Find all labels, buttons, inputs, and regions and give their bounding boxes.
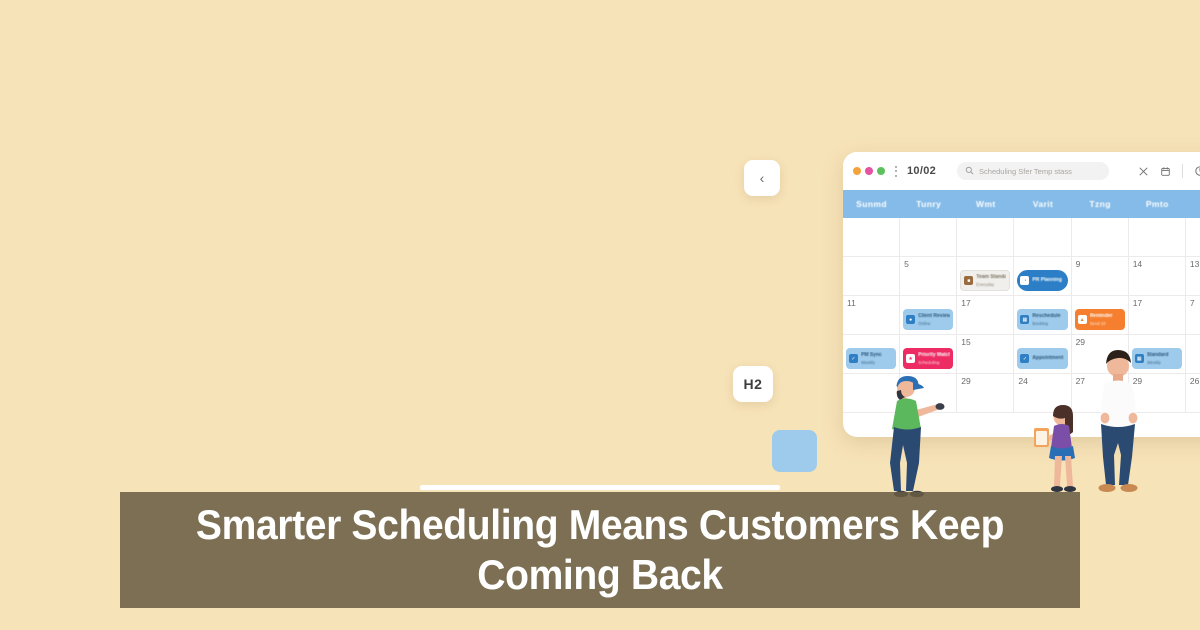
day-header-0: Sunmd: [843, 190, 900, 218]
calendar-cell[interactable]: 17: [957, 296, 1014, 335]
day-header-5: Pmto: [1129, 190, 1186, 218]
calendar-day-number: 29: [961, 377, 1013, 386]
calendar-day-number: 17: [961, 299, 1013, 308]
calendar-cell[interactable]: [900, 218, 957, 257]
calendar-cell[interactable]: [1072, 218, 1129, 257]
calendar-day-number: 26: [1190, 377, 1200, 386]
search-input-value: Scheduling Sfer Temp stass: [979, 167, 1072, 176]
calendar-cell[interactable]: [1129, 218, 1186, 257]
calendar-cell[interactable]: 5: [900, 257, 957, 296]
event-title: Client Review: [918, 313, 950, 319]
event-title: Priority Match: [918, 352, 950, 358]
clock-icon: ◔: [1020, 276, 1029, 285]
event-subtitle: Everyday: [976, 282, 1006, 287]
calendar-event-chip[interactable]: ✓Appointment: [1017, 348, 1067, 369]
calendar-day-number: 14: [1133, 260, 1185, 269]
event-subtitle: Scheduling: [918, 360, 950, 365]
event-text: ReminderSend 10: [1090, 313, 1122, 326]
event-title: Reschedule: [1032, 313, 1064, 319]
event-title: Team Standard: [976, 274, 1006, 280]
event-text: PM SyncWeekly: [861, 352, 893, 365]
page-title: Smarter Scheduling Means Customers Keep …: [167, 500, 1034, 599]
star-icon: ★: [906, 354, 915, 363]
h2-chip-label: H2: [744, 376, 763, 392]
event-title: PM Sync: [861, 352, 893, 358]
calendar-cell[interactable]: [843, 257, 900, 296]
calendar-cell[interactable]: [1186, 335, 1200, 374]
person-green-shirt: [880, 368, 950, 500]
calendar-toolbar: 10/02 Scheduling Sfer Temp stass: [843, 152, 1200, 190]
event-title: Standard: [1147, 352, 1179, 358]
event-text: PR Planning: [1032, 277, 1064, 285]
calendar-cell[interactable]: 11: [843, 296, 900, 335]
calendar-cell[interactable]: [1186, 218, 1200, 257]
event-text: StandardWeekly: [1147, 352, 1179, 365]
event-subtitle: Booking: [1032, 321, 1064, 326]
calendar-day-number: 11: [847, 299, 899, 308]
event-text: Team StandardEveryday: [976, 274, 1006, 287]
check-icon: ✓: [849, 354, 858, 363]
green-dot-icon[interactable]: [877, 167, 885, 175]
calendar-event-chip[interactable]: ▦RescheduleBooking: [1017, 309, 1067, 330]
calendar-cell[interactable]: 13: [1186, 257, 1200, 296]
calendar-cell[interactable]: 15: [957, 335, 1014, 374]
calendar-event-chip[interactable]: ◔PR Planning: [1017, 270, 1067, 291]
calendar-cell[interactable]: 26: [1186, 374, 1200, 413]
calendar-cell[interactable]: [1014, 218, 1071, 257]
calendar-cell[interactable]: ●Client ReviewOnline: [900, 296, 957, 335]
kebab-menu-icon[interactable]: [894, 166, 897, 177]
day-header-1: Tunry: [900, 190, 957, 218]
back-button[interactable]: ‹: [744, 160, 780, 196]
bell-icon: ▲: [1078, 315, 1087, 324]
event-subtitle: Online: [918, 321, 950, 326]
briefcase-icon: ■: [964, 276, 973, 285]
h2-chip[interactable]: H2: [733, 366, 773, 402]
calendar-cell[interactable]: 7: [1186, 296, 1200, 335]
calendar-day-number: 15: [961, 338, 1013, 347]
title-divider: [420, 485, 780, 490]
chevron-left-icon: ‹: [760, 171, 765, 185]
calendar-day-number: 24: [1018, 377, 1070, 386]
calendar-cell[interactable]: 9: [1072, 257, 1129, 296]
slide-stage: 10/02 Scheduling Sfer Temp stass: [0, 0, 1200, 630]
search-input[interactable]: Scheduling Sfer Temp stass: [957, 162, 1109, 180]
calendar-day-number: 9: [1076, 260, 1128, 269]
event-text: Client ReviewOnline: [918, 313, 950, 326]
grid-icon: ▦: [1020, 315, 1029, 324]
calendar-cell[interactable]: ■Team StandardEveryday: [957, 257, 1014, 296]
blue-square-accent: [772, 430, 817, 472]
toolbar-divider: [1182, 164, 1183, 178]
event-text: RescheduleBooking: [1032, 313, 1064, 326]
calendar-cell[interactable]: ✓Appointment: [1014, 335, 1071, 374]
calendar-cell[interactable]: [957, 218, 1014, 257]
person-white-shirt: [1087, 344, 1149, 496]
calendar-event-chip[interactable]: ★Priority MatchScheduling: [903, 348, 953, 369]
event-title: PR Planning: [1032, 277, 1064, 283]
toolbar-date-label: 10/02: [907, 165, 936, 177]
calendar-icon[interactable]: [1160, 166, 1171, 177]
calendar-event-chip[interactable]: ▲ReminderSend 10: [1075, 309, 1125, 330]
day-header-2: Wmt: [957, 190, 1014, 218]
window-controls[interactable]: [853, 167, 885, 175]
orange-dot-icon[interactable]: [853, 167, 861, 175]
title-banner: Smarter Scheduling Means Customers Keep …: [120, 492, 1080, 608]
close-icon[interactable]: [1138, 166, 1149, 177]
event-text: Appointment: [1032, 355, 1064, 363]
event-title: Reminder: [1090, 313, 1122, 319]
calendar-event-chip[interactable]: ■Team StandardEveryday: [960, 270, 1010, 291]
calendar-day-number: 5: [904, 260, 956, 269]
calendar-day-number: 13: [1190, 260, 1200, 269]
event-subtitle: Send 10: [1090, 321, 1122, 326]
calendar-event-chip[interactable]: ●Client ReviewOnline: [903, 309, 953, 330]
toolbar-actions: [1138, 164, 1200, 178]
calendar-day-number: 7: [1190, 299, 1200, 308]
calendar-cell[interactable]: 14: [1129, 257, 1186, 296]
person-purple-top: [1032, 396, 1088, 496]
event-subtitle: Weekly: [1147, 360, 1179, 365]
event-title: Appointment: [1032, 355, 1064, 361]
calendar-event-chip[interactable]: ✓PM SyncWeekly: [846, 348, 896, 369]
event-text: Priority MatchScheduling: [918, 352, 950, 365]
check-icon: ✓: [1020, 354, 1029, 363]
calendar-cell[interactable]: [843, 218, 900, 257]
day-header-4: Tzng: [1072, 190, 1129, 218]
pink-dot-icon[interactable]: [865, 167, 873, 175]
calendar-cell[interactable]: 17: [1129, 296, 1186, 335]
calendar-cell[interactable]: ▦RescheduleBooking: [1014, 296, 1071, 335]
user-icon: ●: [906, 315, 915, 324]
day-header-3: Varit: [1014, 190, 1071, 218]
search-icon: [965, 162, 974, 180]
calendar-cell[interactable]: 29: [957, 374, 1014, 413]
clock-icon[interactable]: [1194, 165, 1200, 177]
event-subtitle: Weekly: [861, 360, 893, 365]
calendar-day-number: 17: [1133, 299, 1185, 308]
calendar-day-headers: SunmdTunryWmtVaritTzngPmtoTatv: [843, 190, 1200, 218]
calendar-cell[interactable]: ◔PR Planning: [1014, 257, 1071, 296]
day-header-6: Tatv: [1186, 190, 1200, 218]
calendar-cell[interactable]: ▲ReminderSend 10: [1072, 296, 1129, 335]
